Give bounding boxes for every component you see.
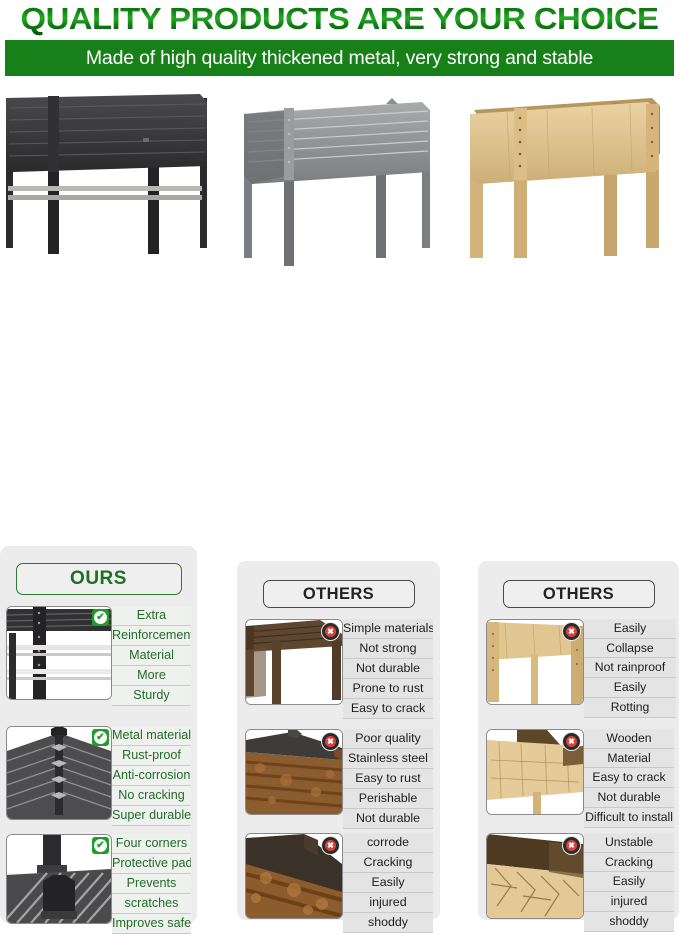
check-icon: ✔ xyxy=(92,837,109,854)
feature-line: shoddy xyxy=(584,912,674,932)
panel-title-others-middle: OTHERS xyxy=(263,580,415,608)
feature-line: injured xyxy=(343,893,433,913)
cross-icon: ✖ xyxy=(321,622,340,641)
feature-line: Easily xyxy=(584,872,674,892)
feature-row: ✖ Simple materials Not strong Not durabl… xyxy=(245,619,433,719)
cross-icon: ✖ xyxy=(321,732,340,751)
feature-line: Not durable xyxy=(584,788,674,808)
feature-text-list: Unstable Cracking Easily injured shoddy xyxy=(584,833,674,932)
feature-line: Unstable xyxy=(584,833,674,853)
feature-row: ✖ Poor quality Stainless steel Easy to r… xyxy=(245,729,433,829)
feature-line: Perishable xyxy=(343,789,433,809)
feature-text-list: Poor quality Stainless steel Easy to rus… xyxy=(343,729,433,829)
feature-row: ✔ Four corners Protective pads Prevents … xyxy=(6,834,191,934)
feature-line: Not rainproof xyxy=(584,658,676,678)
feature-row: ✔ Metal material Rust-proof Anti-corrosi… xyxy=(6,726,191,826)
feature-line: Stainless steel xyxy=(343,749,433,769)
cross-icon: ✖ xyxy=(321,836,340,855)
feature-text-list: Four corners Protective pads Prevents sc… xyxy=(112,834,191,934)
feature-line: Difficult to install xyxy=(584,808,674,828)
feature-line: corrode xyxy=(343,833,433,853)
panel-title-others-right: OTHERS xyxy=(503,580,655,608)
feature-line: Collapse xyxy=(584,639,676,659)
feature-line: Simple materials xyxy=(343,619,433,639)
feature-line: Super durable xyxy=(112,806,191,826)
weathered-wood-frame-photo: ✖ xyxy=(245,619,343,705)
feature-line: More xyxy=(112,666,191,686)
feature-row: ✖ Wooden Material Easy to crack Not dura… xyxy=(486,729,674,828)
hero-product-row xyxy=(0,80,679,268)
feature-line: Four corners xyxy=(112,834,191,854)
feature-line: Rust-proof xyxy=(112,746,191,766)
feature-line: scratches xyxy=(112,894,191,914)
feature-text-list: Easily Collapse Not rainproof Easily Rot… xyxy=(584,619,676,718)
feature-line: Poor quality xyxy=(343,729,433,749)
feature-line: Improves safety xyxy=(112,914,191,934)
feature-line: injured xyxy=(584,892,674,912)
feature-row: ✖ Easily Collapse Not rainproof Easily R… xyxy=(486,619,676,718)
feature-line: Easy to crack xyxy=(343,699,433,719)
feature-line: Cracking xyxy=(343,853,433,873)
feature-line: Not strong xyxy=(343,639,433,659)
panel-others-right: OTHERS ✖ xyxy=(478,561,679,920)
feature-line: Metal material xyxy=(112,726,191,746)
feature-line: Easily xyxy=(343,873,433,893)
feature-line: Prone to rust xyxy=(343,679,433,699)
feature-line: Easily xyxy=(584,678,676,698)
check-icon: ✔ xyxy=(92,729,109,746)
feature-line: Prevents xyxy=(112,874,191,894)
feature-text-list: Extra Reinforcement Material More Sturdy xyxy=(112,606,191,706)
hero-product-image-dark-metal xyxy=(0,80,226,268)
feature-line: Anti-corrosion xyxy=(112,766,191,786)
comparison-area: OURS ✔ xyxy=(0,268,679,668)
metal-corner-joint-photo: ✔ xyxy=(6,726,112,820)
cross-icon: ✖ xyxy=(562,836,581,855)
hero-product-image-wood xyxy=(452,80,679,268)
plain-wood-panel-photo: ✖ xyxy=(486,619,584,705)
feature-text-list: Simple materials Not strong Not durable … xyxy=(343,619,433,719)
feature-row: ✖ corrode Cracking Easily injured shoddy xyxy=(245,833,433,933)
feature-line: No cracking xyxy=(112,786,191,806)
feature-line: Rotting xyxy=(584,698,676,718)
header: QUALITY PRODUCTS ARE YOUR CHOICE Made of… xyxy=(0,0,679,76)
feature-line: Not durable xyxy=(343,809,433,829)
cross-icon: ✖ xyxy=(562,622,581,641)
feature-line: Cracking xyxy=(584,853,674,873)
check-icon: ✔ xyxy=(92,609,109,626)
feature-text-list: corrode Cracking Easily injured shoddy xyxy=(343,833,433,933)
feature-line: Wooden xyxy=(584,729,674,749)
feature-line: Easy to rust xyxy=(343,769,433,789)
rusted-metal-bed-photo: ✖ xyxy=(245,729,343,815)
page-title: QUALITY PRODUCTS ARE YOUR CHOICE xyxy=(0,2,679,36)
feature-line: Sturdy xyxy=(112,686,191,706)
feature-text-list: Wooden Material Easy to crack Not durabl… xyxy=(584,729,674,828)
feature-line: Reinforcement xyxy=(112,626,191,646)
feature-text-list: Metal material Rust-proof Anti-corrosion… xyxy=(112,726,191,826)
corner-protective-pad-photo: ✔ xyxy=(6,834,112,924)
feature-line: Easy to crack xyxy=(584,768,674,788)
hero-product-image-silver-metal xyxy=(226,80,452,268)
feature-line: Not durable xyxy=(343,659,433,679)
feature-line: Extra xyxy=(112,606,191,626)
feature-line: Material xyxy=(112,646,191,666)
feature-line: shoddy xyxy=(343,913,433,933)
feature-line: Easily xyxy=(584,619,676,639)
feature-line: Material xyxy=(584,749,674,769)
split-wood-corner-photo: ✖ xyxy=(486,833,584,919)
subtitle-banner: Made of high quality thickened metal, ve… xyxy=(5,40,674,76)
metal-frame-reinforcement-photo: ✔ xyxy=(6,606,112,700)
panel-others-middle: OTHERS ✖ Simple ma xyxy=(237,561,440,920)
corroded-metal-corner-photo: ✖ xyxy=(245,833,343,919)
panel-ours: OURS ✔ xyxy=(0,546,197,923)
feature-line: Protective pads xyxy=(112,854,191,874)
cracked-wood-board-photo: ✖ xyxy=(486,729,584,815)
feature-row: ✖ Unstable Cracking Easily injured shodd… xyxy=(486,833,674,932)
cross-icon: ✖ xyxy=(562,732,581,751)
panel-title-ours: OURS xyxy=(16,563,182,595)
feature-row: ✔ Extra Reinforcement Material More Stur… xyxy=(6,606,191,706)
